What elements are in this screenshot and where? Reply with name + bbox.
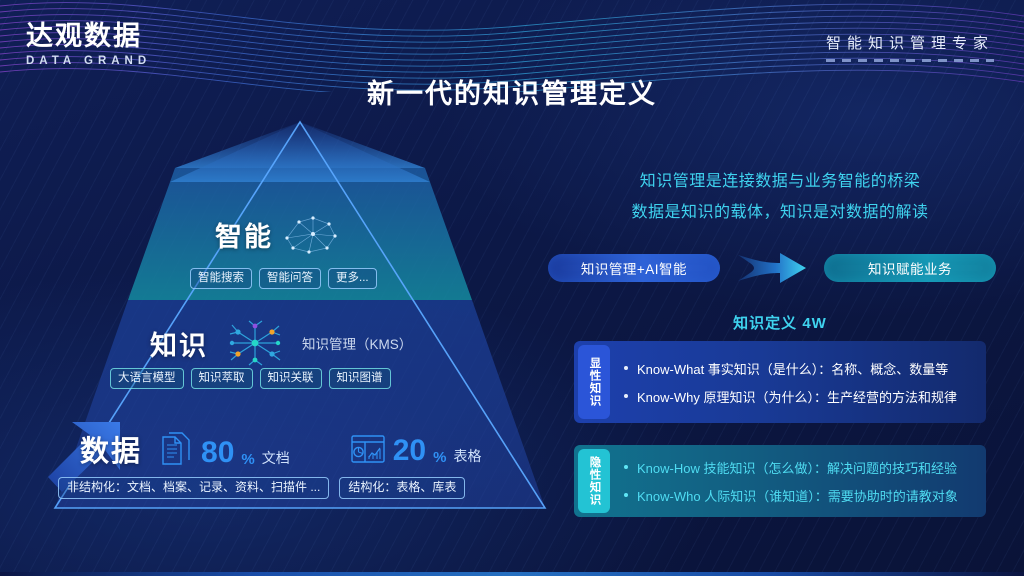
brain-network-icon <box>279 212 341 256</box>
stat-number: 80 <box>201 438 234 468</box>
bullet-icon <box>624 493 628 497</box>
lead-line-2: 数据是知识的载体，知识是对数据的解读 <box>560 197 1000 228</box>
tag-item[interactable]: 知识关联 <box>260 368 322 389</box>
lead-line-1: 知识管理是连接数据与业务智能的桥梁 <box>560 166 1000 197</box>
bullet-icon <box>624 366 628 370</box>
tacit-knowledge-tab-label: 隐性知识 <box>587 456 602 506</box>
knowledge-network-icon <box>222 318 288 368</box>
list-item-text: Know-How 技能知识（怎么做）：解决问题的技巧和经验 <box>637 458 957 477</box>
pyramid-tier-intelligence: 智能 <box>215 212 341 256</box>
stat-percent: % <box>241 451 254 468</box>
tier-tags-intelligence: 智能搜索 智能问答 更多... <box>190 268 377 289</box>
brand-logo: 达观数据 DATA GRAND <box>26 22 151 67</box>
tag-item[interactable]: 结构化：表格、库表 <box>339 477 465 499</box>
tag-item[interactable]: 更多... <box>328 268 377 289</box>
tier-label-data: 数据 <box>80 428 142 470</box>
dashboard-chart-icon <box>350 432 386 466</box>
stat-unit: 表格 <box>453 446 481 466</box>
list-item: Know-How 技能知识（怎么做）：解决问题的技巧和经验 <box>624 458 986 477</box>
tag-item[interactable]: 知识萃取 <box>191 368 253 389</box>
stat-unit: 文档 <box>262 448 290 468</box>
brand-logo-en: DATA GRAND <box>26 55 151 67</box>
list-item-text: Know-What 事实知识（是什么）：名称、概念、数量等 <box>637 359 948 378</box>
bullet-icon <box>624 394 628 398</box>
pyramid-tier-knowledge: 知识 知识管理（KMS） <box>150 318 412 368</box>
flow-diagram: 知识管理+AI智能 知识赋能业务 <box>548 253 996 283</box>
flow-to-pill[interactable]: 知识赋能业务 <box>824 254 996 282</box>
brand-logo-cn: 达观数据 <box>26 22 151 52</box>
explicit-knowledge-tab: 显性知识 <box>578 345 610 419</box>
tier-tags-data: 非结构化：文档、档案、记录、资料、扫描件 ... 结构化：表格、库表 <box>58 477 465 499</box>
tag-item[interactable]: 非结构化：文档、档案、记录、资料、扫描件 ... <box>58 477 329 499</box>
flow-arrow-wrap <box>720 251 824 285</box>
list-item-text: Know-Who 人际知识（谁知道）：需要协助时的请教对象 <box>637 486 958 505</box>
explicit-knowledge-list: Know-What 事实知识（是什么）：名称、概念、数量等 Know-Why 原… <box>610 341 986 423</box>
tagline-dash-underline <box>826 59 994 62</box>
stat-documents: 80 % 文档 <box>160 430 290 468</box>
slide-canvas: 达观数据 DATA GRAND 智能知识管理专家 新一代的知识管理定义 <box>0 0 1024 576</box>
flow-from-pill[interactable]: 知识管理+AI智能 <box>548 254 720 282</box>
brand-tagline: 智能知识管理专家 <box>826 32 994 62</box>
tag-item[interactable]: 知识图谱 <box>329 368 391 389</box>
tag-item[interactable]: 智能问答 <box>259 268 321 289</box>
page-title: 新一代的知识管理定义 <box>0 72 1024 111</box>
list-item: Know-Who 人际知识（谁知道）：需要协助时的请教对象 <box>624 486 986 505</box>
stat-number: 20 <box>393 436 426 466</box>
tier-tags-knowledge: 大语言模型 知识萃取 知识关联 知识图谱 <box>110 368 391 389</box>
explicit-knowledge-box: 显性知识 Know-What 事实知识（是什么）：名称、概念、数量等 Know-… <box>574 341 986 423</box>
section-title-4w: 知识定义 4W <box>560 312 1000 333</box>
kms-caption: 知识管理（KMS） <box>302 333 412 353</box>
bullet-icon <box>624 465 628 469</box>
document-stack-icon <box>160 430 194 468</box>
pyramid-tier-data: 数据 80 % 文档 <box>80 428 481 470</box>
tier-label-knowledge: 知识 <box>150 324 208 363</box>
stat-percent: % <box>433 449 446 466</box>
tacit-knowledge-box: 隐性知识 Know-How 技能知识（怎么做）：解决问题的技巧和经验 Know-… <box>574 445 986 517</box>
tacit-knowledge-tab: 隐性知识 <box>578 449 610 513</box>
bottom-accent-line <box>0 572 1024 576</box>
lead-statement: 知识管理是连接数据与业务智能的桥梁 数据是知识的载体，知识是对数据的解读 <box>560 166 1000 228</box>
brand-tagline-text: 智能知识管理专家 <box>826 32 994 53</box>
stat-tables: 20 % 表格 <box>350 432 482 466</box>
right-arrow-icon <box>736 251 808 285</box>
tag-item[interactable]: 智能搜索 <box>190 268 252 289</box>
tacit-knowledge-list: Know-How 技能知识（怎么做）：解决问题的技巧和经验 Know-Who 人… <box>610 445 986 517</box>
list-item-text: Know-Why 原理知识（为什么）：生产经营的方法和规律 <box>637 387 957 406</box>
tag-item[interactable]: 大语言模型 <box>110 368 184 389</box>
list-item: Know-Why 原理知识（为什么）：生产经营的方法和规律 <box>624 387 986 406</box>
list-item: Know-What 事实知识（是什么）：名称、概念、数量等 <box>624 359 986 378</box>
tier-label-intelligence: 智能 <box>215 215 273 254</box>
knowledge-pyramid: 智能 智能搜索 智能问答 更多... 知识 <box>40 110 560 520</box>
explicit-knowledge-tab-label: 显性知识 <box>587 357 602 407</box>
